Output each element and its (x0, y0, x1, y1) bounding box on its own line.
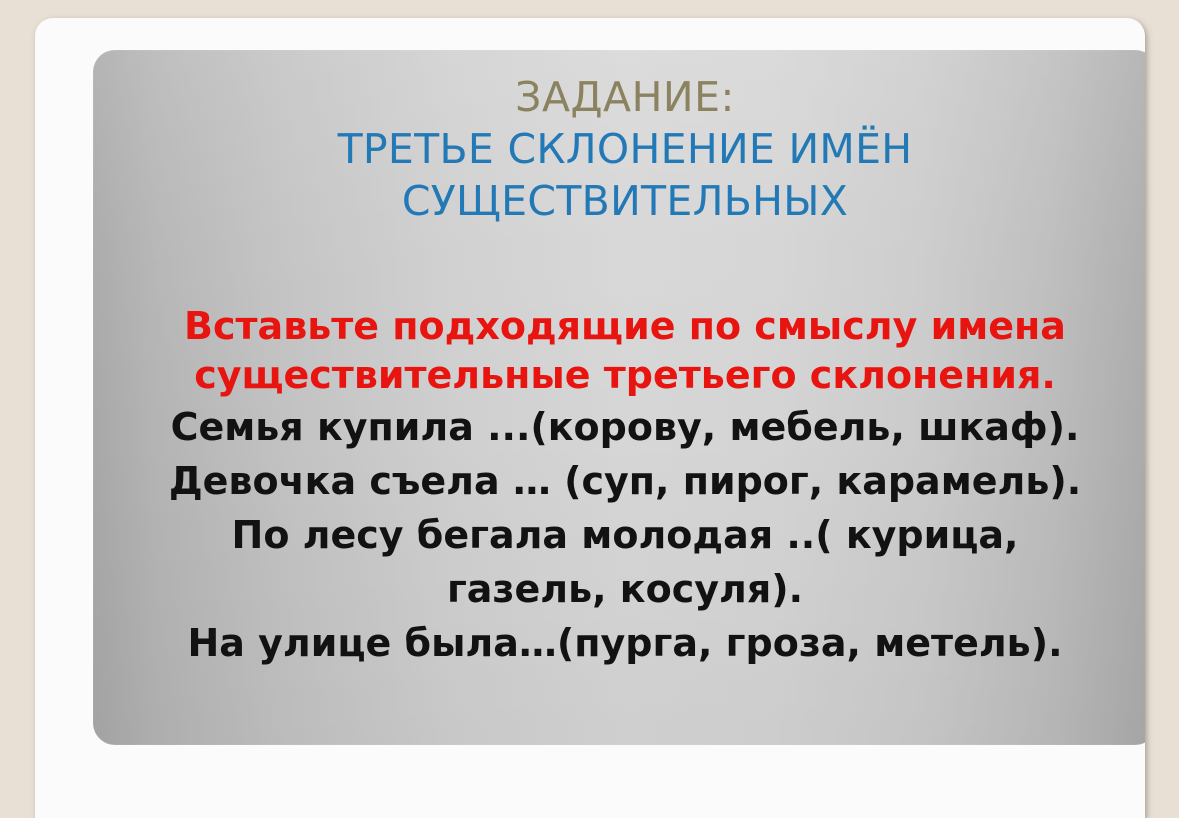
slide-body-block: Вставьте подходящие по смыслу имена суще… (115, 302, 1135, 670)
exercise-line-1: Семья купила ...(корову, мебель, шкаф). (115, 400, 1135, 454)
slide-title-block: ЗАДАНИЕ: ТРЕТЬЕ СКЛОНЕНИЕ ИМЁН СУЩЕСТВИТ… (121, 72, 1129, 227)
slide-content-panel: ЗАДАНИЕ: ТРЕТЬЕ СКЛОНЕНИЕ ИМЁН СУЩЕСТВИТ… (93, 50, 1145, 745)
exercise-line-2: Девочка съела … (суп, пирог, карамель). (115, 454, 1135, 508)
exercise-line-5: На улице была…(пурга, гроза, метель). (115, 616, 1135, 670)
slide-frame: ЗАДАНИЕ: ТРЕТЬЕ СКЛОНЕНИЕ ИМЁН СУЩЕСТВИТ… (35, 18, 1145, 818)
assignment-label: ЗАДАНИЕ: (121, 72, 1129, 123)
exercise-line-4: газель, косуля). (115, 562, 1135, 616)
instruction-line-1: Вставьте подходящие по смыслу имена (115, 302, 1135, 351)
instruction-line-2: существительные третьего склонения. (115, 351, 1135, 400)
exercise-line-3: По лесу бегала молодая ..( курица, (115, 508, 1135, 562)
page-title: ТРЕТЬЕ СКЛОНЕНИЕ ИМЁН СУЩЕСТВИТЕЛЬНЫХ (121, 123, 1129, 227)
